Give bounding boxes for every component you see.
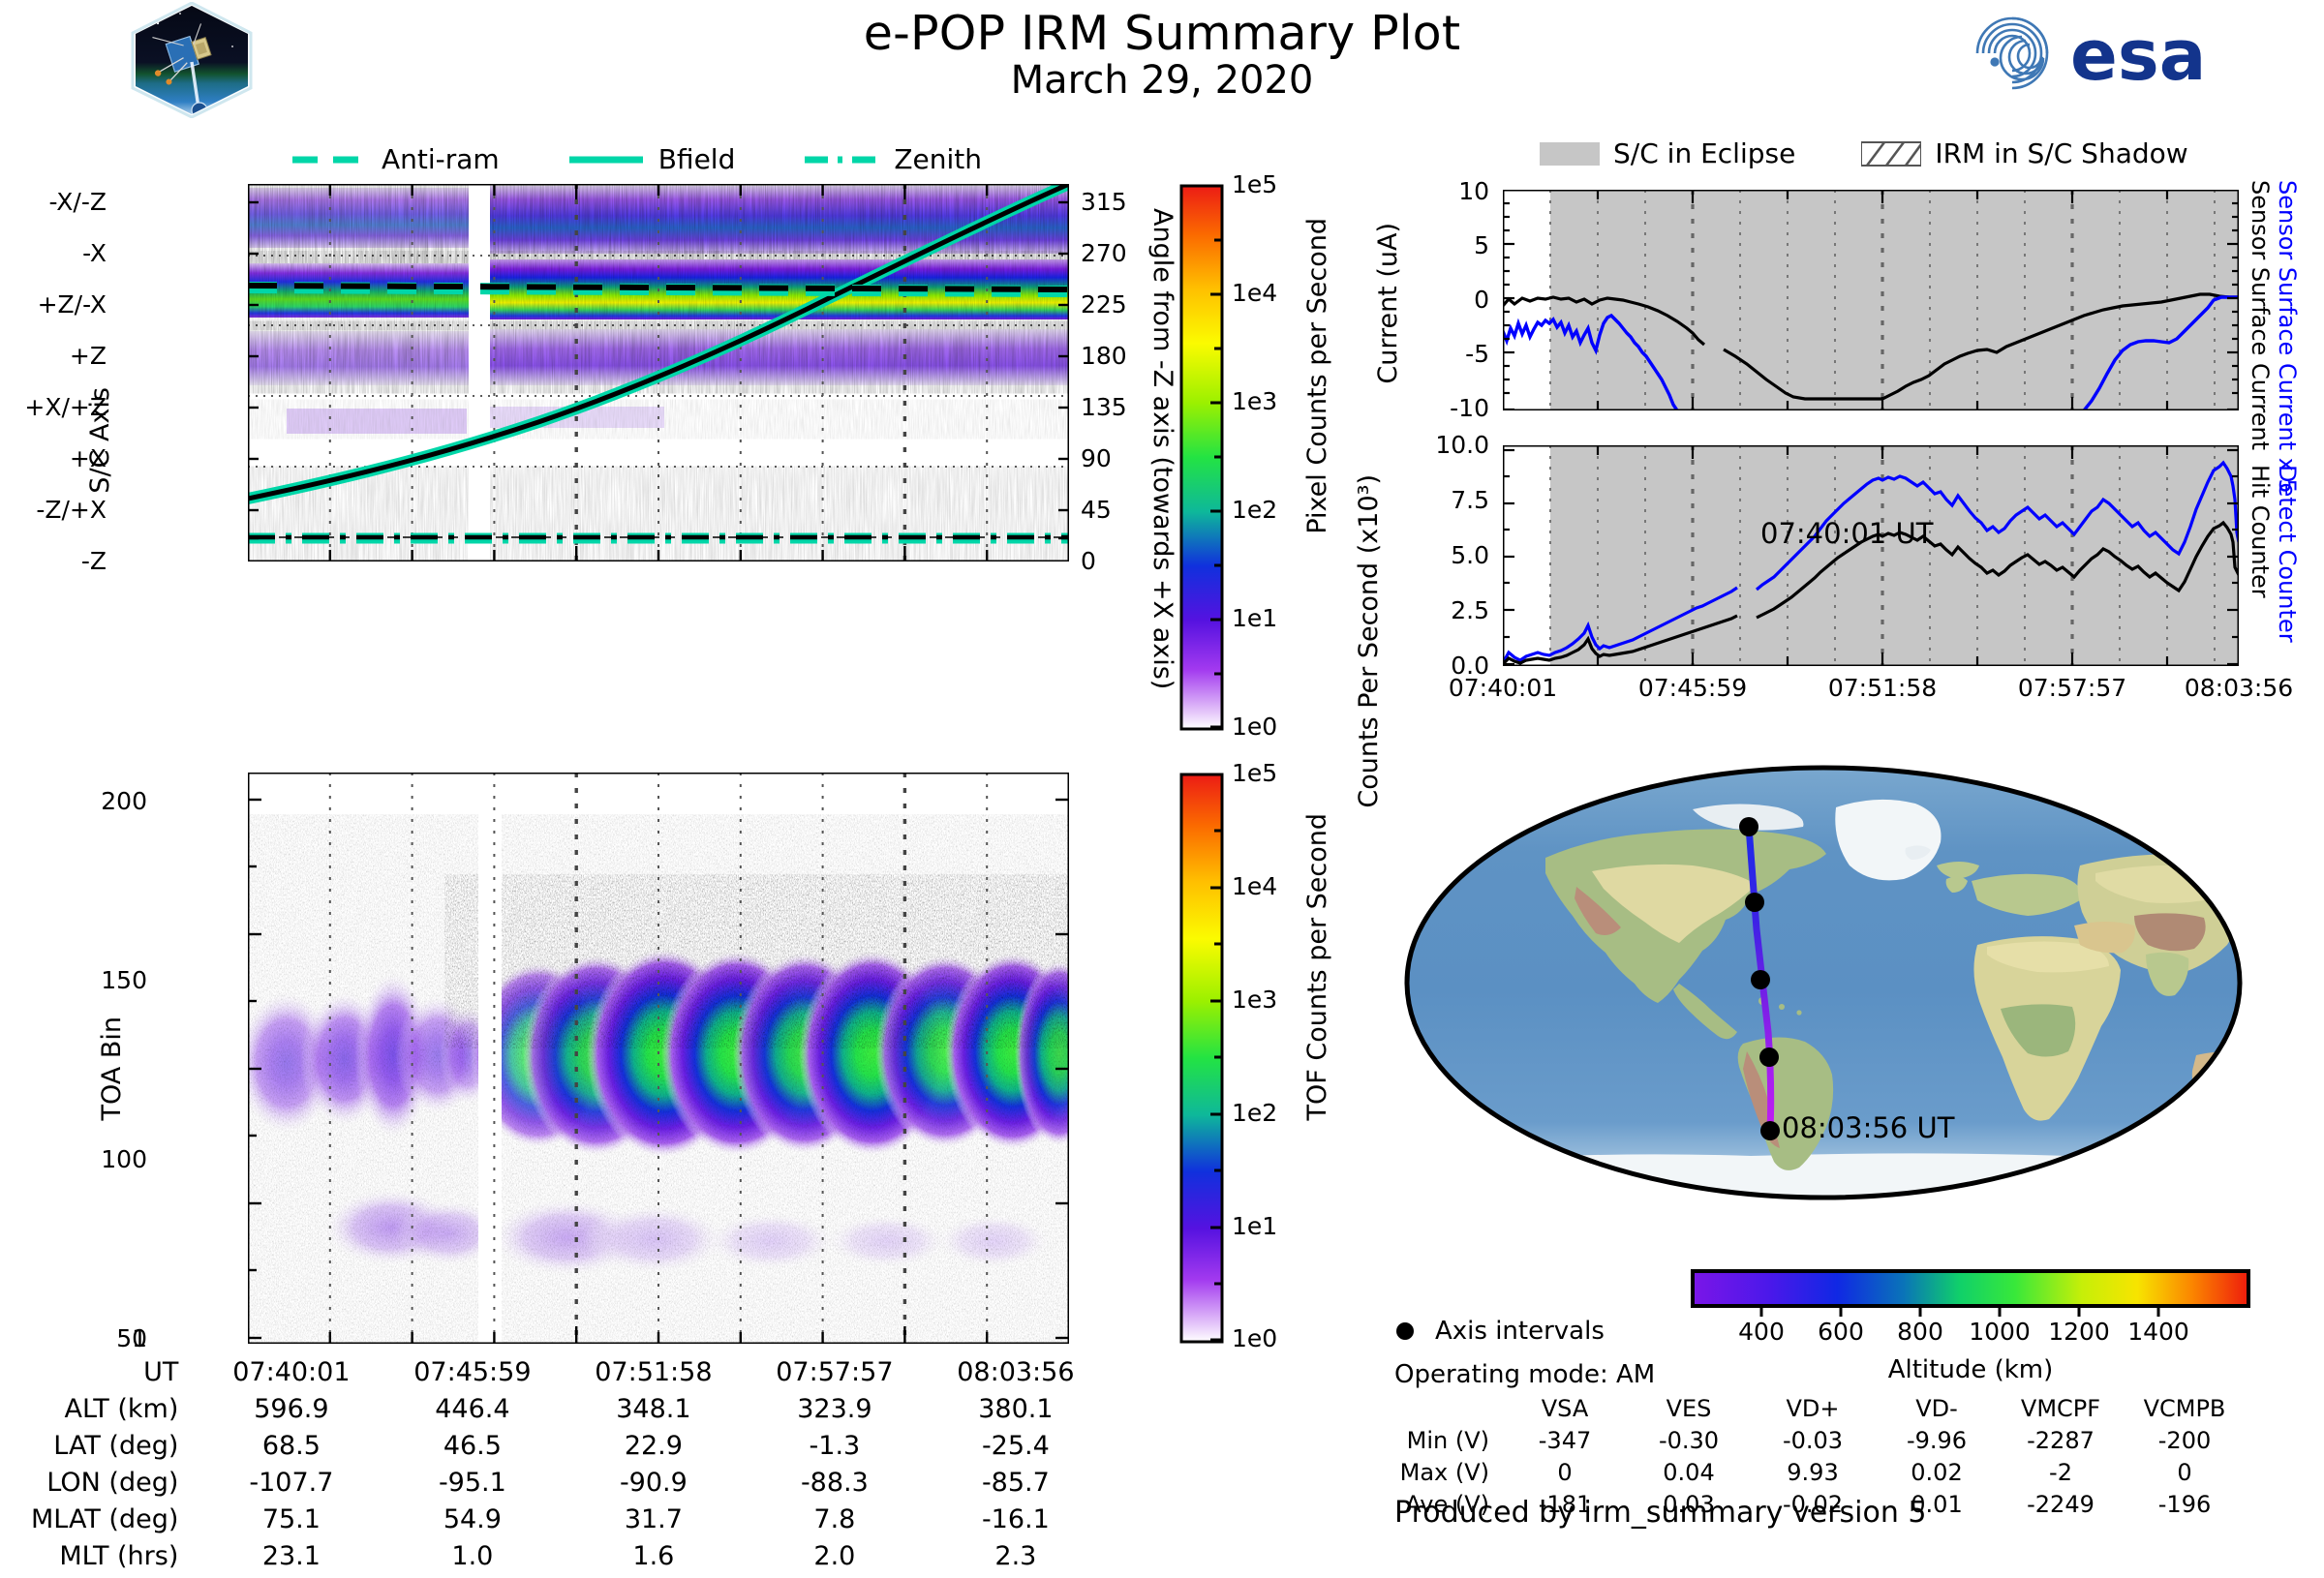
y2tick-angle-7: 0: [1081, 549, 1096, 573]
ytick-cnt-2: 5.0: [1451, 543, 1489, 567]
cell: 68.5: [201, 1431, 381, 1466]
cell: 323.9: [745, 1394, 924, 1429]
cell: 2.3: [926, 1541, 1105, 1576]
cb2-tick-1: 1e4: [1232, 872, 1277, 900]
col-header-vdplus: VD+: [1751, 1394, 1875, 1426]
angle-panel-y2label: Angle from -Z axis (towards +X axis): [1147, 208, 1177, 689]
cell: -0.03: [1751, 1426, 1875, 1458]
col-header-vmcpf: VMCPF: [1999, 1394, 2123, 1426]
cassiope-logo: [124, 2, 260, 118]
row-label-alt: ALT (km): [31, 1394, 199, 1429]
ytick-angle-2: +Z/-X: [38, 292, 107, 317]
cell: 07:45:59: [382, 1357, 562, 1392]
map-start-time-label: 07:40:01 UT: [1760, 517, 1933, 550]
ytick-toa-0: 200: [101, 789, 147, 813]
row-label-lon: LON (deg): [31, 1468, 199, 1502]
black-dot-icon: [1394, 1320, 1416, 1342]
solid-line-icon: [567, 153, 645, 167]
y2tick-angle-2: 225: [1081, 292, 1127, 317]
svg-text:esa: esa: [2070, 15, 2206, 96]
ytick-cur-2: 0: [1474, 288, 1489, 312]
cell: 0: [2123, 1458, 2247, 1490]
legend-label-bfield: Bfield: [658, 143, 736, 175]
cell: 2.0: [745, 1541, 924, 1576]
col-header-ves: VES: [1627, 1394, 1751, 1426]
eclipse-legend: S/C in Eclipse IRM in S/C Shadow: [1540, 137, 2188, 169]
cell: -2: [1999, 1458, 2123, 1490]
col-header-vdminus: VD-: [1875, 1394, 1999, 1426]
y2tick-angle-1: 270: [1081, 241, 1127, 265]
y2tick-angle-4: 135: [1081, 395, 1127, 419]
ytick-angle-3: +Z: [70, 344, 107, 368]
ytick-cnt-1: 7.5: [1451, 488, 1489, 512]
y2tick-angle-5: 90: [1081, 446, 1112, 470]
cell: -25.4: [926, 1431, 1105, 1466]
altitude-colorbar-title: Altitude (km): [1690, 1355, 2251, 1384]
hatched-swatch-icon: [1861, 140, 1921, 167]
table-header-row: VSA VES VD+ VD- VMCPF VCMPB: [1385, 1394, 2247, 1426]
cell: 31.7: [564, 1504, 743, 1539]
table-row: MLAT (deg) 75.1 54.9 31.7 7.8 -16.1: [31, 1504, 1105, 1539]
cell: 596.9: [201, 1394, 381, 1429]
ytick-cur-0: 10: [1458, 179, 1489, 203]
cell: -200: [2123, 1426, 2247, 1458]
table-row: LAT (deg) 68.5 46.5 22.9 -1.3 -25.4: [31, 1431, 1105, 1466]
cell: 1.6: [564, 1541, 743, 1576]
cell: 348.1: [564, 1394, 743, 1429]
legend-item-zenith: Zenith: [803, 143, 982, 175]
legend-label-zenith: Zenith: [894, 143, 982, 175]
col-header-vcmpb: VCMPB: [2123, 1394, 2247, 1426]
ytick-cnt-0: 10.0: [1435, 433, 1489, 457]
legend-label-anti-ram: Anti-ram: [382, 143, 500, 175]
table-row: MLT (hrs) 23.1 1.0 1.6 2.0 2.3: [31, 1541, 1105, 1576]
cell: 380.1: [926, 1394, 1105, 1429]
toa-spectrogram-plot: [248, 773, 1069, 1344]
current-right-label-black: Sensor Surface Current: [2247, 180, 2274, 450]
cb1-tick-3: 1e2: [1232, 496, 1277, 524]
y2tick-angle-0: 315: [1081, 190, 1127, 214]
cb2-tick-3: 1e2: [1232, 1099, 1277, 1127]
cell: 07:40:01: [201, 1357, 381, 1392]
map-end-time-label: 08:03:56 UT: [1782, 1111, 1954, 1144]
cb1-tick-0: 1e5: [1232, 170, 1277, 198]
row-label-lat: LAT (deg): [31, 1431, 199, 1466]
ytick-toa-bottom: 1: [132, 1326, 147, 1350]
cell: -90.9: [564, 1468, 743, 1502]
cell: -16.1: [926, 1504, 1105, 1539]
legend-item-anti-ram: Anti-ram: [290, 143, 500, 175]
cb1-tick-2: 1e3: [1232, 387, 1277, 415]
row-label-ut: UT: [31, 1357, 199, 1392]
ytick-angle-6: -Z/+X: [36, 498, 107, 522]
cb2-tick-4: 1e1: [1232, 1212, 1277, 1240]
legend-label-irm-shadow: IRM in S/C Shadow: [1935, 137, 2187, 169]
cell: 0: [1503, 1458, 1627, 1490]
table-row: UT 07:40:01 07:45:59 07:51:58 07:57:57 0…: [31, 1357, 1105, 1392]
tof-counts-colorbar-title: TOF Counts per Second: [1302, 813, 1332, 1121]
cell: -347: [1503, 1426, 1627, 1458]
corner-cell: [1385, 1394, 1503, 1426]
cell: -0.30: [1627, 1426, 1751, 1458]
current-right-label-blue: Sensor Surface Current x 5: [2274, 180, 2301, 494]
ytick-angle-7: -Z: [81, 549, 107, 573]
angle-spectrogram-plot: [248, 184, 1069, 561]
cell: 22.9: [564, 1431, 743, 1466]
row-label-mlt: MLT (hrs): [31, 1541, 199, 1576]
cell: 07:51:58: [564, 1357, 743, 1392]
cell: -1.3: [745, 1431, 924, 1466]
row-label-mlat: MLAT (deg): [31, 1504, 199, 1539]
toa-panel-ylabel: TOA Bin: [97, 1017, 127, 1120]
cb1-tick-5: 1e0: [1232, 713, 1277, 741]
col-header-vsa: VSA: [1503, 1394, 1627, 1426]
current-plot: [1503, 190, 2239, 410]
cell: 0.02: [1875, 1458, 1999, 1490]
table-row: ALT (km) 596.9 446.4 348.1 323.9 380.1: [31, 1394, 1105, 1429]
cell: 08:03:56: [926, 1357, 1105, 1392]
ytick-toa-2: 100: [101, 1147, 147, 1171]
cell: 46.5: [382, 1431, 562, 1466]
xtick-4: 08:03:56: [2152, 676, 2324, 700]
cell: -196: [2123, 1490, 2247, 1522]
row-label-min: Min (V): [1385, 1426, 1503, 1458]
eclipse-shading: [1550, 190, 2239, 410]
xtick-1: 07:45:59: [1605, 676, 1780, 700]
cell: -2249: [1999, 1490, 2123, 1522]
y2tick-angle-6: 45: [1081, 498, 1112, 522]
legend-item-irm-shadow: IRM in S/C Shadow: [1861, 137, 2187, 169]
ytick-angle-4: +X/+Z: [24, 395, 107, 419]
cell: -2287: [1999, 1426, 2123, 1458]
counts-plot: [1503, 445, 2239, 666]
ytick-toa-1: 150: [101, 968, 147, 992]
cell: -9.96: [1875, 1426, 1999, 1458]
cell: 75.1: [201, 1504, 381, 1539]
xtick-3: 07:57:57: [1985, 676, 2159, 700]
table-row: Max (V) 0 0.04 9.93 0.02 -2 0: [1385, 1458, 2247, 1490]
gray-swatch-icon: [1540, 140, 1600, 167]
cell: 0.04: [1627, 1458, 1751, 1490]
tof-counts-colorbar: [1179, 773, 1224, 1344]
axis-intervals-label: Axis intervals: [1435, 1317, 1605, 1346]
xtick-0: 07:40:01: [1416, 676, 1590, 700]
cell: -88.3: [745, 1468, 924, 1502]
dashed-line-icon: [290, 153, 368, 167]
operating-mode-label: Operating mode: AM: [1394, 1360, 1655, 1389]
ytick-angle-1: -X: [82, 241, 107, 265]
cell: -107.7: [201, 1468, 381, 1502]
cell: 7.8: [745, 1504, 924, 1539]
table-row: LON (deg) -107.7 -95.1 -90.9 -88.3 -85.7: [31, 1468, 1105, 1502]
pixel-counts-colorbar-title: Pixel Counts per Second: [1302, 218, 1332, 534]
xtick-2: 07:51:58: [1795, 676, 1970, 700]
axis-intervals-legend: Axis intervals: [1394, 1317, 1605, 1346]
cell: 1.0: [382, 1541, 562, 1576]
cell: -95.1: [382, 1468, 562, 1502]
legend-item-bfield: Bfield: [567, 143, 736, 175]
counts-right-label-black: Hit Counter: [2247, 465, 2274, 598]
ytick-angle-0: -X/-Z: [49, 190, 107, 214]
cell: 446.4: [382, 1394, 562, 1429]
ytick-cur-3: -5: [1465, 342, 1489, 366]
cb1-tick-4: 1e1: [1232, 604, 1277, 632]
counts-right-label-blue: Detect Counter: [2274, 465, 2301, 643]
y2tick-angle-3: 180: [1081, 344, 1127, 368]
legend-label-eclipse: S/C in Eclipse: [1613, 137, 1795, 169]
orbit-parameters-table: UT 07:40:01 07:45:59 07:51:58 07:57:57 0…: [29, 1355, 1107, 1578]
spectrogram-legend: Anti-ram Bfield Zenith: [290, 143, 982, 175]
ytick-cur-1: 5: [1474, 233, 1489, 258]
cell: 07:57:57: [745, 1357, 924, 1392]
current-panel-ylabel: Current (uA): [1373, 223, 1403, 384]
cell: 54.9: [382, 1504, 562, 1539]
cb2-tick-0: 1e5: [1232, 759, 1277, 787]
cb1-tick-1: 1e4: [1232, 279, 1277, 307]
alt-tick-5: 1400: [2110, 1320, 2207, 1344]
table-row: Min (V) -347 -0.30 -0.03 -9.96 -2287 -20…: [1385, 1426, 2247, 1458]
cb2-tick-2: 1e3: [1232, 986, 1277, 1014]
cell: -85.7: [926, 1468, 1105, 1502]
cb2-tick-5: 1e0: [1232, 1324, 1277, 1352]
counts-ylabel-text: Counts Per Second (x10³): [1354, 474, 1384, 808]
ytick-cur-4: -10: [1450, 396, 1489, 420]
produced-by-footer: Produced by irm_summary version 5: [1394, 1496, 1926, 1530]
esa-logo: esa: [1966, 8, 2227, 100]
ytick-cnt-3: 2.5: [1451, 598, 1489, 622]
row-label-max: Max (V): [1385, 1458, 1503, 1490]
altitude-colorbar: [1690, 1268, 2251, 1309]
pixel-counts-colorbar: [1179, 184, 1224, 731]
cell: 9.93: [1751, 1458, 1875, 1490]
ytick-angle-5: +X: [70, 446, 107, 470]
counts-panel-ylabel: Counts Per Second (x10³): [1356, 474, 1383, 808]
dashdot-line-icon: [803, 153, 880, 167]
cell: 23.1: [201, 1541, 381, 1576]
legend-item-eclipse: S/C in Eclipse: [1540, 137, 1795, 169]
